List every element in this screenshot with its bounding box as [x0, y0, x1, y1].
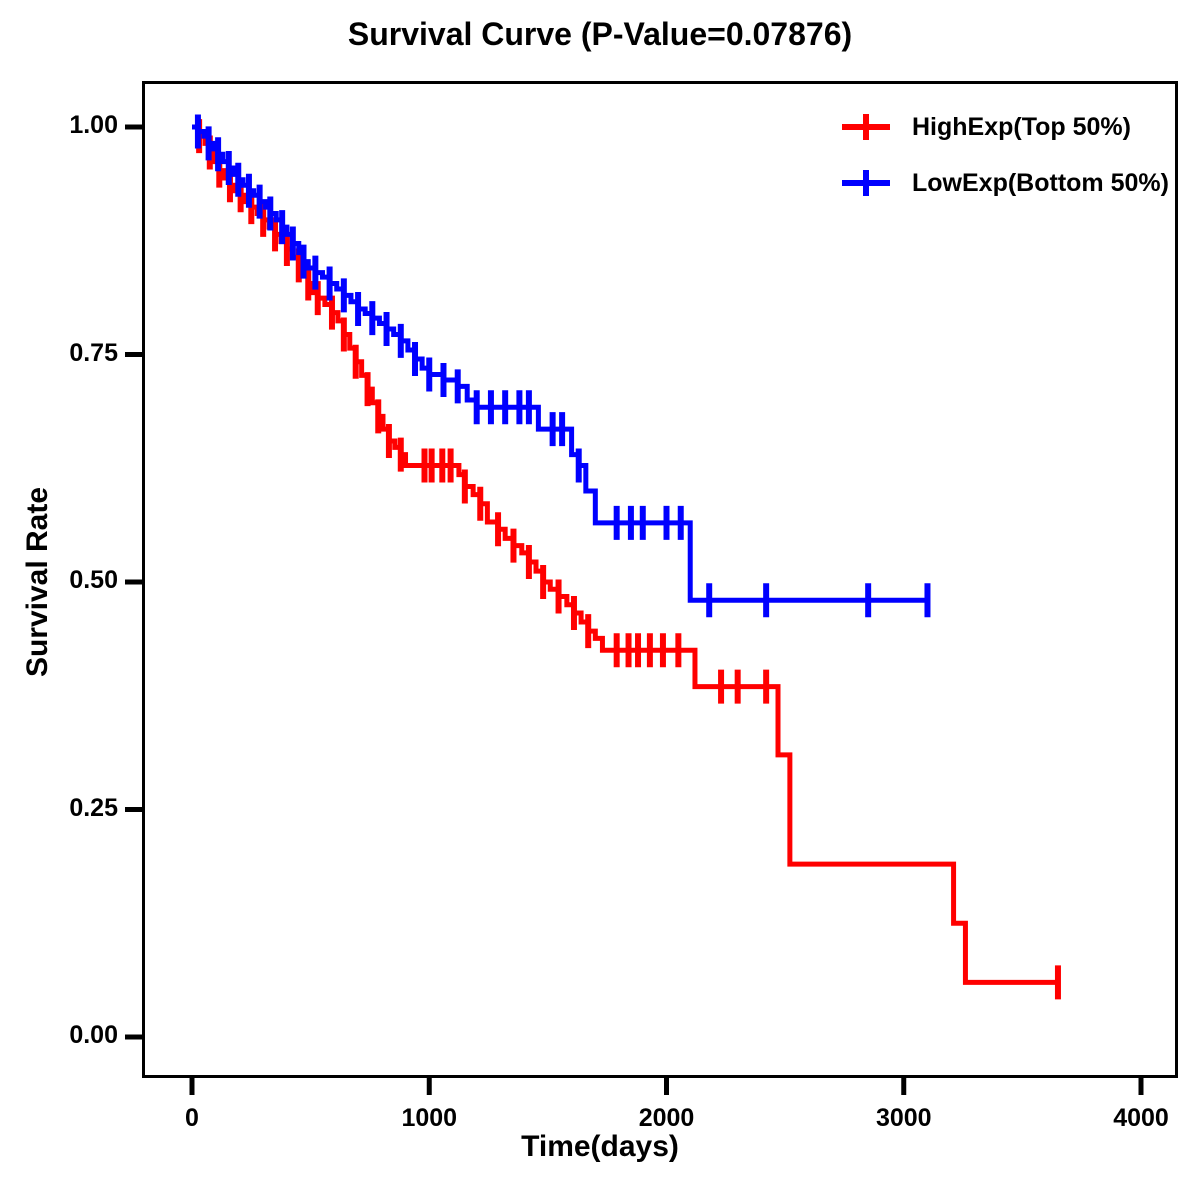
y-tick-label: 0.25: [40, 794, 118, 823]
x-tick-label: 3000: [834, 1104, 974, 1133]
legend-label-highexp: HighExp(Top 50%): [912, 113, 1131, 142]
legend-plus-marker-highexp: [838, 112, 894, 142]
x-tick-label: 4000: [1071, 1104, 1200, 1133]
series-layer: [192, 115, 1060, 1000]
survival-curve-figure: Survival Curve (P-Value=0.07876) 0.000.2…: [0, 0, 1200, 1200]
legend-item-lowexp[interactable]: LowExp(Bottom 50%): [838, 168, 1169, 198]
y-axis-title: Survival Rate: [21, 482, 55, 682]
x-tick-label: 2000: [597, 1104, 737, 1133]
y-tick-label: 0.75: [40, 339, 118, 368]
legend-item-highexp[interactable]: HighExp(Top 50%): [838, 112, 1169, 142]
legend: HighExp(Top 50%) LowExp(Bottom 50%): [838, 112, 1169, 198]
axis-ticks: [125, 127, 1141, 1095]
x-tick-label: 1000: [359, 1104, 499, 1133]
series-lowexp: [192, 115, 927, 618]
x-tick-label: 0: [122, 1104, 262, 1133]
legend-plus-marker-lowexp: [838, 168, 894, 198]
series-highexp: [192, 119, 1060, 999]
legend-label-lowexp: LowExp(Bottom 50%): [912, 169, 1169, 198]
y-tick-label: 1.00: [40, 111, 118, 140]
x-axis-title: Time(days): [0, 1130, 1200, 1164]
y-tick-label: 0.00: [40, 1021, 118, 1050]
